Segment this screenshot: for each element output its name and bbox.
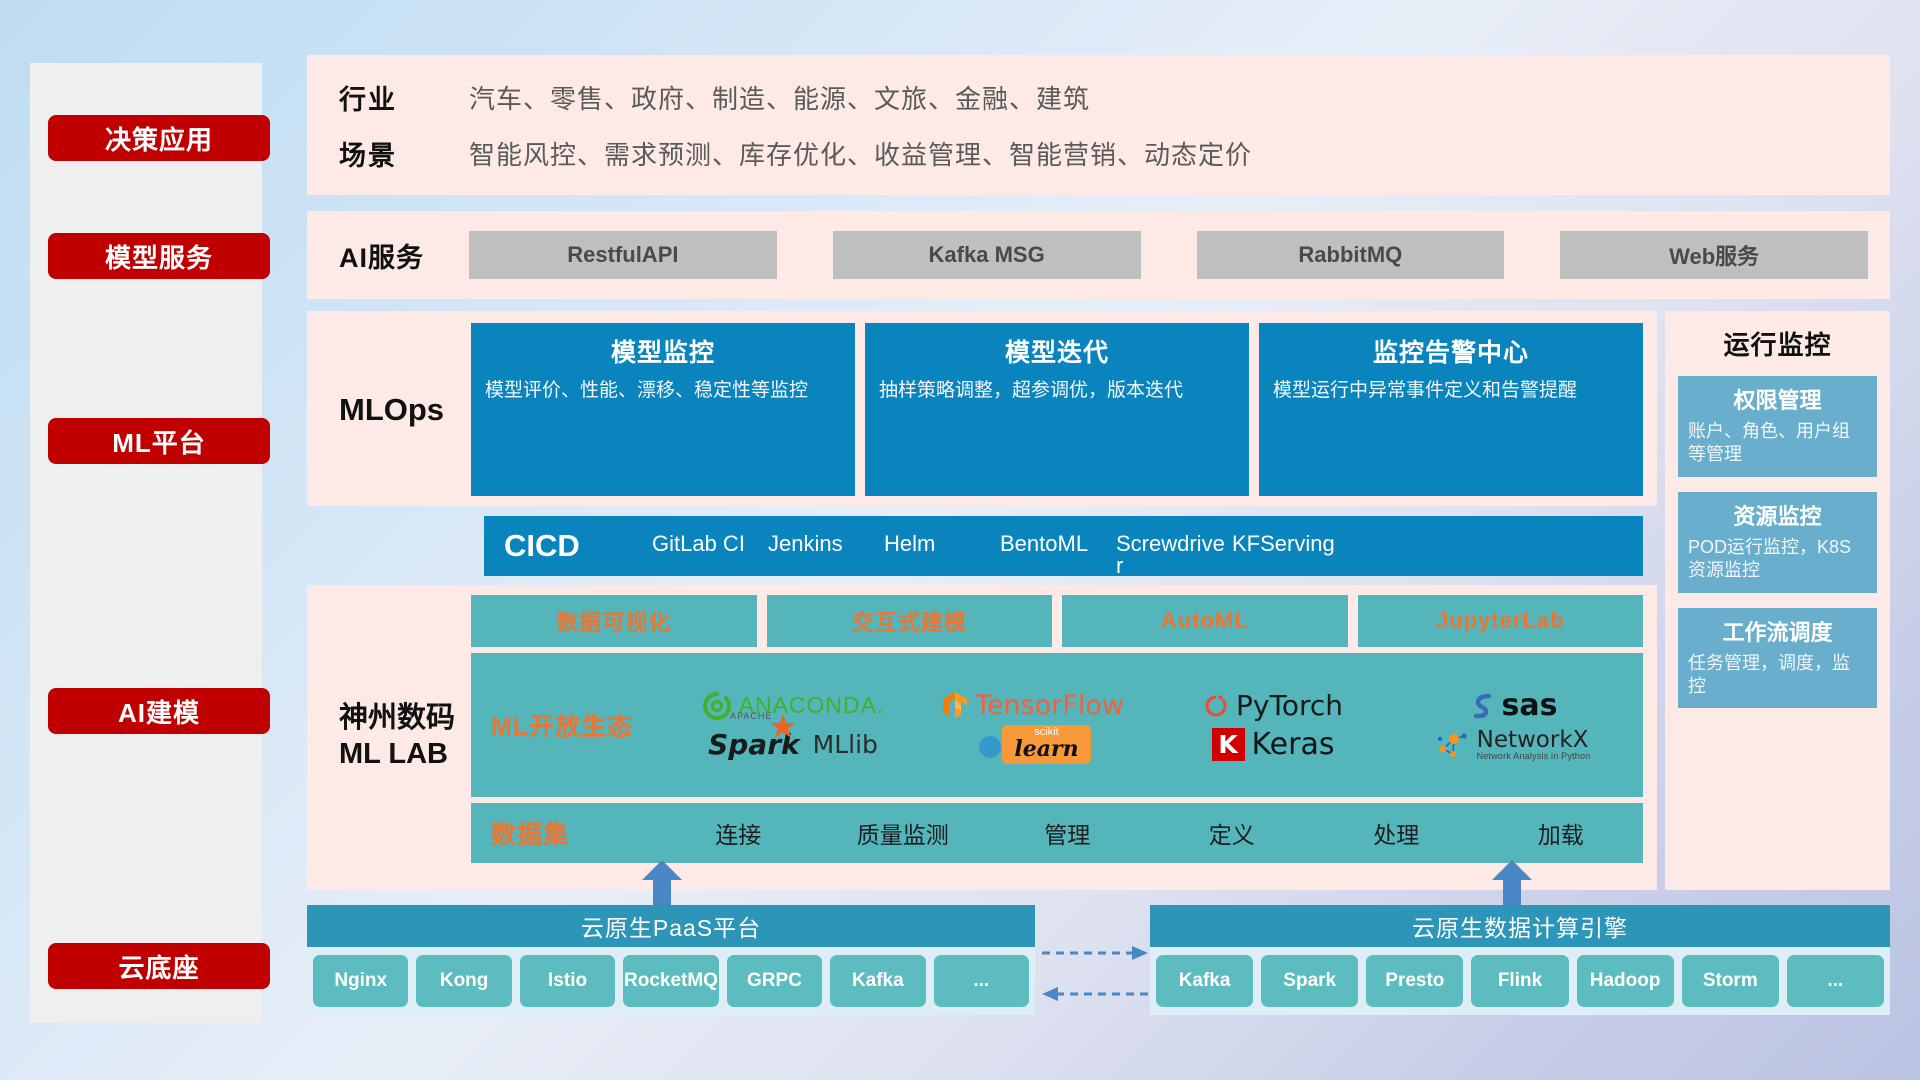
tool-chip-data-visualization[interactable]: 数据可视化 (471, 595, 757, 647)
anaconda-mark-icon (702, 691, 732, 721)
monitor-card-title: 工作流调度 (1688, 615, 1867, 647)
scenario-row: 场景 智能风控、需求预测、库存优化、收益管理、智能营销、动态定价 (339, 125, 1890, 181)
data-chip-more[interactable]: ... (1787, 955, 1884, 1007)
runtime-monitor-panel: 运行监控 权限管理 账户、角色、用户组等管理 资源监控 POD运行监控，K8S资… (1665, 311, 1890, 890)
dataset-item-manage[interactable]: 管理 (985, 816, 1150, 850)
cloud-chip-rocketmq[interactable]: RocketMQ (623, 955, 718, 1007)
data-chip-flink[interactable]: Flink (1471, 955, 1568, 1007)
monitor-card-workflow[interactable]: 工作流调度 任务管理，调度，监控 (1678, 608, 1877, 709)
dataset-item-connect[interactable]: 连接 (656, 816, 821, 850)
mlops-card-model-monitoring[interactable]: 模型监控 模型评价、性能、漂移、稳定性等监控 (471, 323, 855, 496)
cloud-data-engine-block: 云原生数据计算引擎 Kafka Spark Presto Flink Hadoo… (1150, 905, 1890, 1015)
keras-logo: K Keras (1153, 727, 1393, 762)
monitor-card-desc: 账户、角色、用户组等管理 (1688, 420, 1867, 467)
scenario-key: 场景 (339, 134, 469, 173)
cicd-item-helm[interactable]: Helm (884, 516, 1000, 576)
data-chip-hadoop[interactable]: Hadoop (1577, 955, 1674, 1007)
scikit-blue-circle-icon (975, 730, 1005, 760)
cloud-chip-more[interactable]: ... (934, 955, 1029, 1007)
dataset-title: 数据集 (491, 815, 656, 851)
pytorch-wordmark: PyTorch (1236, 689, 1343, 722)
ml-lab-content: 数据可视化 交互式建模 AutoML JupyterLab ML开放生态 ANA… (471, 595, 1643, 878)
networkx-graph-icon (1436, 730, 1470, 760)
mlops-card-model-iteration[interactable]: 模型迭代 抽样策略调整，超参调优，版本迭代 (865, 323, 1249, 496)
industry-value: 汽车、零售、政府、制造、能源、文旅、金融、建筑 (469, 79, 1090, 116)
ml-lab-label: 神州数码 ML LAB (339, 595, 471, 878)
mlops-label: MLOps (339, 323, 471, 496)
tool-chip-automl[interactable]: AutoML (1062, 595, 1348, 647)
ml-open-ecosystem-panel: ML开放生态 ANACONDA. (471, 653, 1643, 797)
keras-wordmark: Keras (1252, 727, 1335, 762)
rail-chip-ml-platform[interactable]: ML平台 (48, 418, 270, 464)
rail-chip-ai-modeling[interactable]: AI建模 (48, 688, 270, 734)
ai-service-chip-group: RestfulAPI Kafka MSG RabbitMQ Web服务 (469, 231, 1890, 279)
mlops-card-group: 模型监控 模型评价、性能、漂移、稳定性等监控 模型迭代 抽样策略调整，超参调优，… (471, 323, 1643, 496)
cloud-data-engine-title: 云原生数据计算引擎 (1150, 905, 1890, 947)
mlops-band: MLOps 模型监控 模型评价、性能、漂移、稳定性等监控 模型迭代 抽样策略调整… (307, 311, 1657, 506)
ai-service-band: AI服务 RestfulAPI Kafka MSG RabbitMQ Web服务 (307, 211, 1890, 299)
up-arrow-data-engine-icon (1490, 860, 1534, 906)
monitor-card-title: 资源监控 (1688, 499, 1867, 531)
ai-service-chip-web[interactable]: Web服务 (1560, 231, 1868, 279)
cicd-item-screwdriver[interactable]: Screwdriver (1116, 516, 1232, 576)
keras-mark-icon: K (1212, 728, 1245, 761)
mlops-card-alert-center[interactable]: 监控告警中心 模型运行中异常事件定义和告警提醒 (1259, 323, 1643, 496)
data-chip-presto[interactable]: Presto (1366, 955, 1463, 1007)
ml-lab-tool-group: 数据可视化 交互式建模 AutoML JupyterLab (471, 595, 1643, 647)
cloud-paas-title: 云原生PaaS平台 (307, 905, 1035, 947)
cicd-item-bentoml[interactable]: BentoML (1000, 516, 1116, 576)
monitor-card-resource[interactable]: 资源监控 POD运行监控，K8S资源监控 (1678, 492, 1877, 593)
cicd-item-kfserving[interactable]: KFServing (1232, 516, 1348, 576)
cloud-paas-block: 云原生PaaS平台 Nginx Kong Istio RocketMQ GRPC… (307, 905, 1035, 1015)
scenario-value: 智能风控、需求预测、库存优化、收益管理、智能营销、动态定价 (469, 135, 1252, 172)
sas-mark-icon (1469, 692, 1495, 720)
cloud-chip-nginx[interactable]: Nginx (313, 955, 408, 1007)
pytorch-flame-icon (1203, 691, 1229, 721)
data-chip-kafka[interactable]: Kafka (1156, 955, 1253, 1007)
cloud-paas-chip-group: Nginx Kong Istio RocketMQ GRPC Kafka ... (307, 947, 1035, 1015)
spark-apache-label: APACHE (730, 711, 772, 721)
monitor-card-desc: 任务管理，调度，监控 (1688, 652, 1867, 699)
pytorch-logo: PyTorch (1153, 689, 1393, 722)
ml-lab-label-line1: 神州数码 (339, 701, 471, 736)
cloud-chip-kong[interactable]: Kong (416, 955, 511, 1007)
ecosystem-logo-grid: ANACONDA. TensorFlow (673, 686, 1633, 764)
data-chip-storm[interactable]: Storm (1682, 955, 1779, 1007)
networkx-tagline: Network Analysis in Python (1477, 752, 1591, 761)
mlops-card-title: 模型监控 (485, 333, 841, 369)
monitor-card-desc: POD运行监控，K8S资源监控 (1688, 536, 1867, 583)
networkx-wordmark: NetworkX (1477, 729, 1591, 752)
cloud-chip-kafka[interactable]: Kafka (830, 955, 925, 1007)
industry-row: 行业 汽车、零售、政府、制造、能源、文旅、金融、建筑 (339, 69, 1890, 125)
rail-chip-model-service[interactable]: 模型服务 (48, 233, 270, 279)
mlops-card-desc: 模型评价、性能、漂移、稳定性等监控 (485, 378, 841, 403)
rail-chip-decision[interactable]: 决策应用 (48, 115, 270, 161)
mllib-wordmark: MLlib (813, 730, 878, 759)
sas-logo: sas (1393, 688, 1633, 723)
mlops-card-title: 监控告警中心 (1273, 333, 1629, 369)
monitor-card-permission[interactable]: 权限管理 账户、角色、用户组等管理 (1678, 376, 1877, 477)
rail-chip-cloud-base[interactable]: 云底座 (48, 943, 270, 989)
tool-chip-interactive-modeling[interactable]: 交互式建模 (767, 595, 1053, 647)
ml-lab-label-line2: ML LAB (339, 737, 471, 772)
tensorflow-logo: TensorFlow (913, 690, 1153, 721)
cicd-item-jenkins[interactable]: Jenkins (768, 516, 884, 576)
cicd-strip: CICD GitLab CI Jenkins Helm BentoML Scre… (484, 516, 1643, 576)
tensorflow-wordmark: TensorFlow (975, 690, 1124, 721)
ml-open-ecosystem-label: ML开放生态 (491, 707, 673, 743)
ai-service-chip-kafka-msg[interactable]: Kafka MSG (833, 231, 1141, 279)
mlops-card-title: 模型迭代 (879, 333, 1235, 369)
left-rail: 决策应用 模型服务 ML平台 AI建模 云底座 (30, 63, 262, 1023)
dataset-row: 数据集 连接 质量监测 管理 定义 处理 加载 (471, 803, 1643, 863)
mlops-card-desc: 模型运行中异常事件定义和告警提醒 (1273, 378, 1629, 403)
mlops-card-desc: 抽样策略调整，超参调优，版本迭代 (879, 378, 1235, 403)
ai-service-label: AI服务 (339, 236, 469, 275)
spark-mllib-logo: APACHE Spark MLlib (673, 728, 913, 761)
cicd-title: CICD (504, 528, 652, 564)
spark-star-icon (770, 714, 796, 740)
industry-key: 行业 (339, 78, 469, 117)
ml-lab-band: 神州数码 ML LAB 数据可视化 交互式建模 AutoML JupyterLa… (307, 585, 1657, 890)
learn-word: learn (1014, 738, 1078, 760)
networkx-logo: NetworkX Network Analysis in Python (1393, 729, 1633, 761)
cloud-chip-grpc[interactable]: GRPC (727, 955, 822, 1007)
bidirectional-dashed-link-icon (1040, 938, 1150, 1008)
dataset-item-quality[interactable]: 质量监测 (821, 816, 986, 850)
tool-chip-jupyterlab[interactable]: JupyterLab (1358, 595, 1644, 647)
cloud-data-engine-chip-group: Kafka Spark Presto Flink Hadoop Storm ..… (1150, 947, 1890, 1015)
runtime-monitor-title: 运行监控 (1678, 325, 1877, 362)
scikit-learn-logo: scikit learn (913, 725, 1153, 764)
cicd-item-gitlab-ci[interactable]: GitLab CI (652, 516, 768, 576)
ai-service-chip-restfulapi[interactable]: RestfulAPI (469, 231, 777, 279)
data-chip-spark[interactable]: Spark (1261, 955, 1358, 1007)
dataset-item-load[interactable]: 加载 (1479, 816, 1644, 850)
monitor-card-title: 权限管理 (1688, 383, 1867, 415)
industry-scenario-band: 行业 汽车、零售、政府、制造、能源、文旅、金融、建筑 场景 智能风控、需求预测、… (307, 55, 1890, 195)
up-arrow-paas-icon (640, 860, 684, 906)
sas-wordmark: sas (1502, 688, 1558, 723)
dataset-item-process[interactable]: 处理 (1314, 816, 1479, 850)
cloud-chip-istio[interactable]: Istio (520, 955, 615, 1007)
tensorflow-mark-icon (942, 691, 968, 721)
dataset-item-define[interactable]: 定义 (1150, 816, 1315, 850)
ai-service-chip-rabbitmq[interactable]: RabbitMQ (1197, 231, 1505, 279)
